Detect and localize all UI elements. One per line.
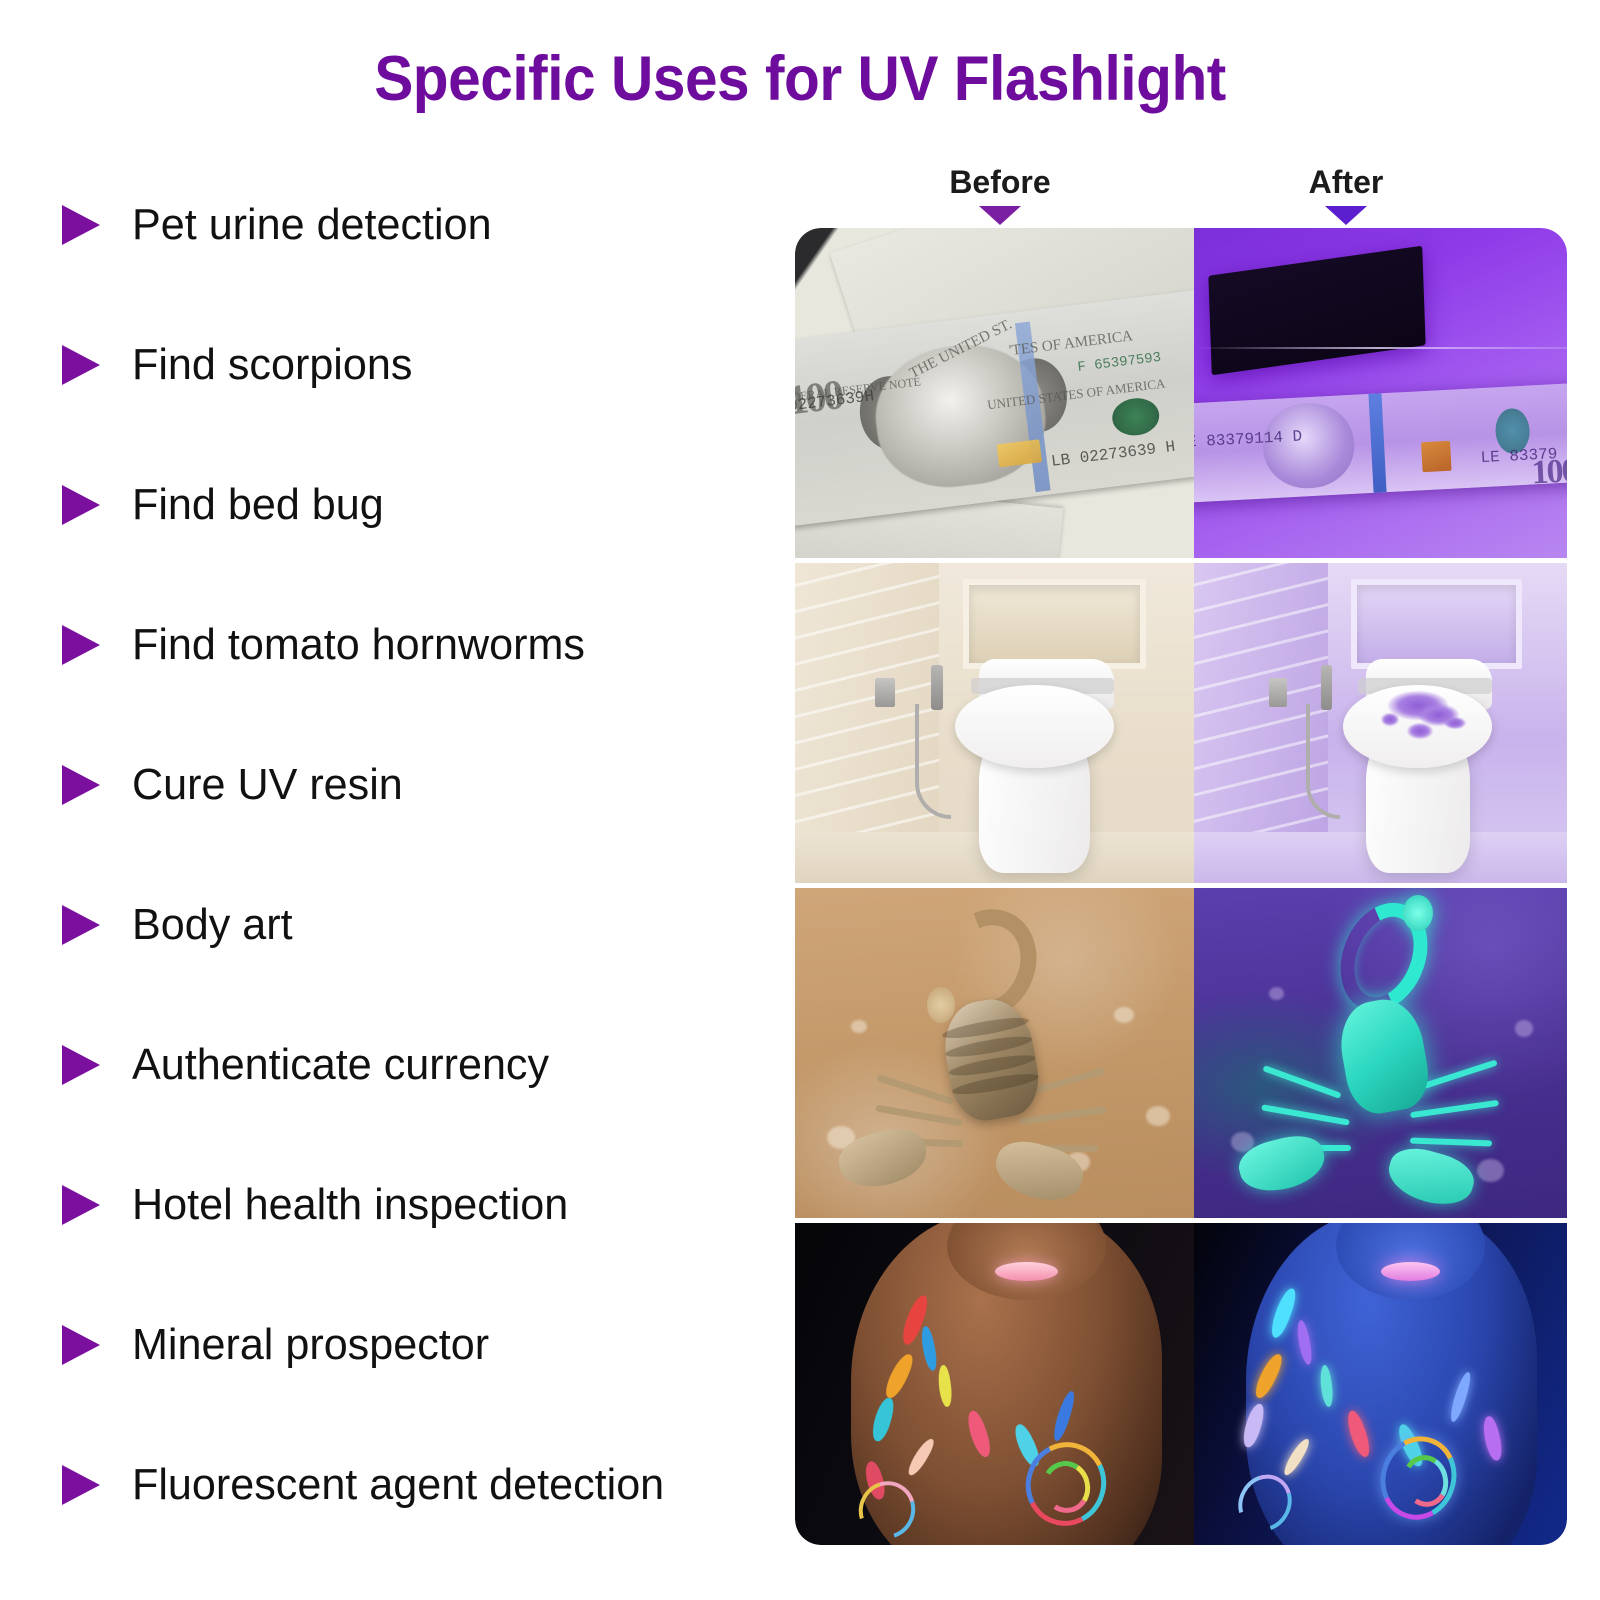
comparison-row-scorpion xyxy=(795,888,1567,1218)
triangle-bullet-icon xyxy=(60,343,102,387)
triangle-bullet-icon xyxy=(60,763,102,807)
list-item: Mineral prospector xyxy=(52,1275,792,1415)
after-column-header: After xyxy=(1236,166,1456,231)
before-label: Before xyxy=(890,166,1110,198)
use-label: Hotel health inspection xyxy=(132,1183,568,1227)
list-item: Find scorpions xyxy=(52,295,792,435)
list-item: Cure UV resin xyxy=(52,715,792,855)
page-title: Specific Uses for UV Flashlight xyxy=(56,46,1544,112)
currency-after-image: E 83379114 D LE 83379 100 xyxy=(1194,228,1567,558)
before-column-header: Before xyxy=(890,166,1110,231)
triangle-bullet-icon xyxy=(60,1323,102,1367)
list-item: Find bed bug xyxy=(52,435,792,575)
triangle-bullet-icon xyxy=(60,623,102,667)
list-item: Authenticate currency xyxy=(52,995,792,1135)
list-item: Find tomato hornworms xyxy=(52,575,792,715)
triangle-bullet-icon xyxy=(60,1183,102,1227)
chevron-down-icon xyxy=(890,204,1110,231)
list-item: Hotel health inspection xyxy=(52,1135,792,1275)
bathroom-after-image xyxy=(1194,563,1567,883)
use-label: Find bed bug xyxy=(132,483,384,527)
use-label: Authenticate currency xyxy=(132,1043,549,1087)
use-label: Find scorpions xyxy=(132,343,412,387)
chevron-down-icon xyxy=(1236,204,1456,231)
triangle-bullet-icon xyxy=(60,203,102,247)
comparison-row-bathroom xyxy=(795,563,1567,883)
comparison-row-currency: 100 THE UNITED ST. 'TES OF AMERICA UNITE… xyxy=(795,228,1567,558)
use-label: Fluorescent agent detection xyxy=(132,1463,664,1507)
after-label: After xyxy=(1236,166,1456,198)
triangle-bullet-icon xyxy=(60,903,102,947)
use-label: Body art xyxy=(132,903,293,947)
uses-list: Pet urine detection Find scorpions Find … xyxy=(52,155,792,1555)
scorpion-before-image xyxy=(795,888,1194,1218)
triangle-bullet-icon xyxy=(60,1463,102,1507)
list-item: Fluorescent agent detection xyxy=(52,1415,792,1555)
currency-before-image: 100 THE UNITED ST. 'TES OF AMERICA UNITE… xyxy=(795,228,1194,558)
comparison-row-body-art xyxy=(795,1223,1567,1545)
triangle-bullet-icon xyxy=(60,1043,102,1087)
bathroom-before-image xyxy=(795,563,1194,883)
triangle-bullet-icon xyxy=(60,483,102,527)
body-art-after-image xyxy=(1194,1223,1567,1545)
list-item: Body art xyxy=(52,855,792,995)
use-label: Pet urine detection xyxy=(132,203,492,247)
use-label: Mineral prospector xyxy=(132,1323,489,1367)
scorpion-after-image xyxy=(1194,888,1567,1218)
list-item: Pet urine detection xyxy=(52,155,792,295)
before-after-image-grid: 100 THE UNITED ST. 'TES OF AMERICA UNITE… xyxy=(795,228,1567,1550)
body-art-before-image xyxy=(795,1223,1194,1545)
use-label: Find tomato hornworms xyxy=(132,623,585,667)
use-label: Cure UV resin xyxy=(132,763,403,807)
